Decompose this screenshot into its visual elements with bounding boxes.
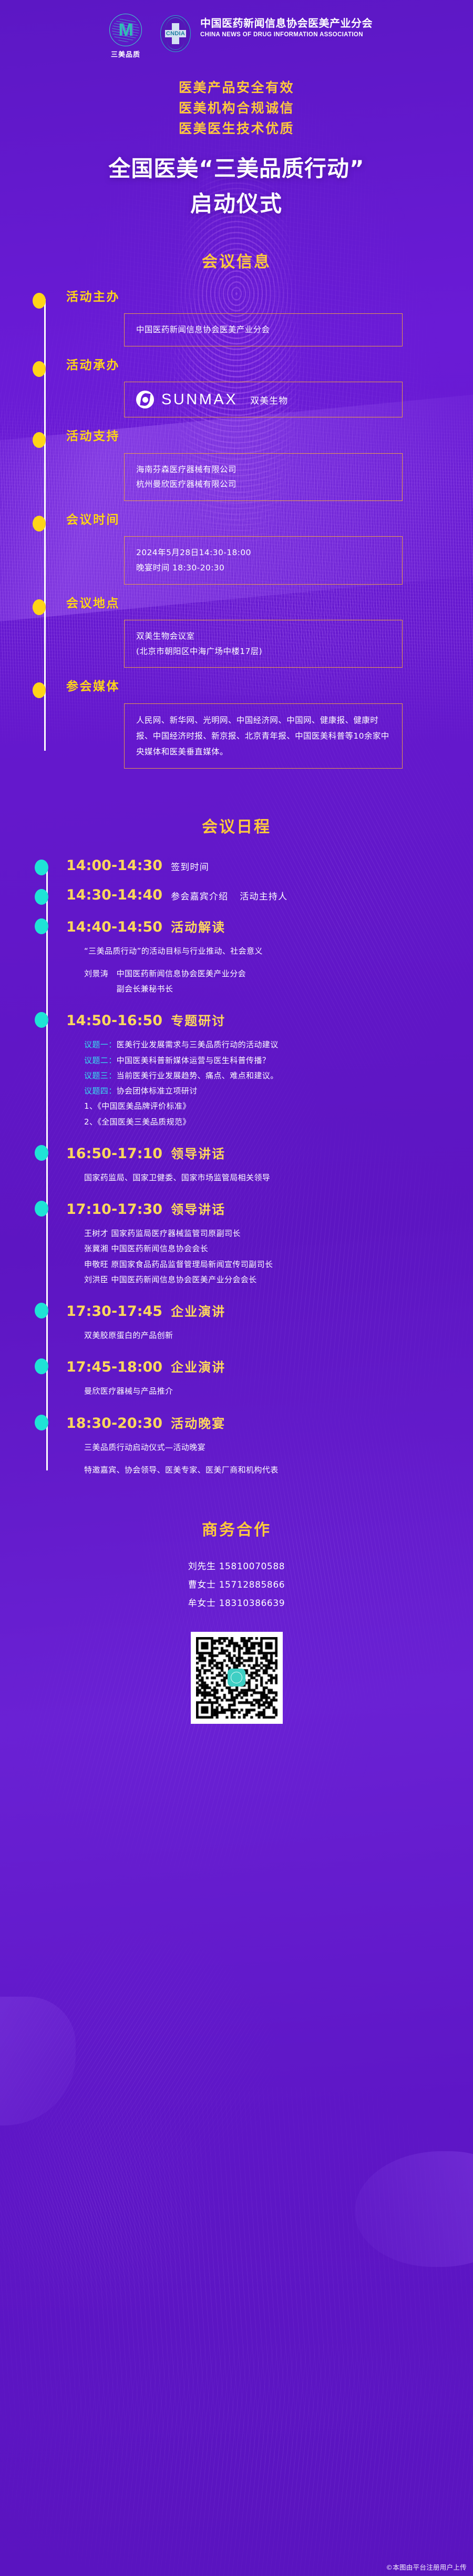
agenda-topic-text: 中国医美科普新媒体运营与医生科普传播？ <box>117 1056 271 1065</box>
contact-line-2: 曹女士 15712885866 <box>0 1576 473 1594</box>
agenda-topic-label: 参会嘉宾介绍 <box>171 892 228 902</box>
background-wave-10 <box>0 2344 473 2576</box>
agenda-topic-text: 当前医美行业发展趋势、痛点、难点和建议。 <box>117 1071 279 1080</box>
poster-header: M 三美品质 CNDIA 中国医药新闻信息协会医美产业分会 CHINA NEWS… <box>0 0 473 59</box>
agenda-body-line: “三美品质行动”的活动目标与行业推动、社会意义 <box>84 944 473 959</box>
slogan-group: 医美产品安全有效 医美机构合规诚信 医美医生技术优质 <box>0 78 473 139</box>
agenda-topic: 领导讲话 <box>171 1143 225 1162</box>
agenda-topic: 参会嘉宾介绍活动主持人 <box>171 889 287 902</box>
agenda-row-body: 曼欣医疗器械与产品推介 <box>84 1384 473 1399</box>
agenda-row-header: 14:00-14:30签到时间 <box>66 858 473 874</box>
info-row-card: SUNMAX双美生物 <box>124 382 403 417</box>
agenda-body-line: 三美品质行动启动仪式—活动晚宴 <box>84 1440 473 1455</box>
info-bullet-dot-icon <box>33 361 46 377</box>
page-title: 全国医美“三美品质行动” 启动仪式 <box>0 156 473 217</box>
info-row: 活动承办SUNMAX双美生物 <box>41 359 473 417</box>
agenda-row-header: 17:45-18:00企业演讲 <box>66 1357 473 1375</box>
slogan-line-2: 医美机构合规诚信 <box>0 98 473 119</box>
agenda-row-header: 14:40-14:50活动解读 <box>66 917 473 935</box>
conference-info-list: 活动主办中国医药新闻信息协会医美产业分会活动承办SUNMAX双美生物活动支持海南… <box>0 291 473 769</box>
agenda-body-line: 刘洪臣 中国医药新闻信息协会医美产业分会会长 <box>84 1272 473 1287</box>
info-bullet-dot-icon <box>33 293 46 309</box>
info-bullet-dot-icon <box>33 599 46 615</box>
info-row-card: 2024年5月28日14:30-18:00晚宴时间 18:30-20:30 <box>124 536 403 584</box>
footer-watermark: ©本图由平台注册用户上传 <box>386 2562 467 2572</box>
agenda-row: 17:10-17:30领导讲话王树才 国家药监局医疗器械监管司原副司长张冀湘 中… <box>41 1199 473 1287</box>
agenda-row-header: 14:50-16:50专题研讨 <box>66 1010 473 1029</box>
agenda-time: 14:40-14:50 <box>66 919 162 935</box>
info-row-label: 活动支持 <box>66 430 473 443</box>
poster-canvas: M 三美品质 CNDIA 中国医药新闻信息协会医美产业分会 CHINA NEWS… <box>0 0 473 2576</box>
agenda-time: 14:50-16:50 <box>66 1013 162 1029</box>
info-row-card: 中国医药新闻信息协会医美产业分会 <box>124 313 403 346</box>
agenda-topic-text: 协会团体标准立项研讨 <box>117 1086 198 1096</box>
association-names: 中国医药新闻信息协会医美产业分会 CHINA NEWS OF DRUG INFO… <box>200 17 373 38</box>
info-row: 参会媒体人民网、新华网、光明网、中国经济网、中国网、健康报、健康时报、中国经济时… <box>41 680 473 769</box>
info-row-card: 双美生物会议室(北京市朝阳区中海广场中楼17层) <box>124 620 403 668</box>
info-row-card: 海南芬森医疗器械有限公司杭州曼欣医疗器械有限公司 <box>124 453 403 501</box>
slogan-line-1: 医美产品安全有效 <box>0 78 473 98</box>
cndia-emblem: CNDIA <box>159 15 192 53</box>
agenda-row: 16:50-17:10领导讲话国家药监局、国家卫健委、国家市场监管局相关领导 <box>41 1143 473 1185</box>
agenda-bullet-dot-icon <box>35 1415 48 1430</box>
cndia-abbrev-label: CNDIA <box>166 30 185 37</box>
agenda-row-body: 议题一：医美行业发展需求与三美品质行动的活动建议议题二：中国医美科普新媒体运营与… <box>84 1037 473 1130</box>
agenda-body-line: 国家药监局、国家卫健委、国家市场监管局相关领导 <box>84 1170 473 1185</box>
agenda-bullet-dot-icon <box>35 1145 48 1161</box>
contact-line-1: 刘先生 15810070588 <box>0 1558 473 1576</box>
agenda-topic-label: 专题研讨 <box>171 1014 225 1028</box>
info-row: 活动支持海南芬森医疗器械有限公司杭州曼欣医疗器械有限公司 <box>41 430 473 501</box>
agenda-topic: 活动晚宴 <box>171 1413 225 1432</box>
agenda-body-line: 议题二：中国医美科普新媒体运营与医生科普传播？ <box>84 1053 473 1068</box>
qr-code-matrix <box>196 1637 277 1719</box>
agenda-body-line: 双美胶原蛋白的产品创新 <box>84 1328 473 1343</box>
info-row-card: 人民网、新华网、光明网、中国经济网、中国网、健康报、健康时报、中国经济时报、新京… <box>124 703 403 769</box>
agenda-bullet-dot-icon <box>35 918 48 934</box>
wheat-ear-icon <box>167 42 184 50</box>
agenda-bullet-dot-icon <box>35 1012 48 1028</box>
agenda-body-line: 刘景涛 中国医药新闻信息协会医美产业分会 <box>84 966 473 982</box>
agenda-row-header: 18:30-20:30活动晚宴 <box>66 1413 473 1432</box>
contact-list: 刘先生 15810070588 曹女士 15712885866 牟女士 1831… <box>0 1558 473 1613</box>
qr-center-logo-icon <box>228 1669 245 1686</box>
background-blob-right <box>355 2151 473 2267</box>
agenda-topic: 领导讲话 <box>171 1199 225 1218</box>
agenda-row-body: 三美品质行动启动仪式—活动晚宴特邀嘉宾、协会领导、医美专家、医美厂商和机构代表 <box>84 1440 473 1478</box>
agenda-time: 18:30-20:30 <box>66 1416 162 1432</box>
agenda-time: 17:45-18:00 <box>66 1359 162 1375</box>
section-title-agenda: 会议日程 <box>0 814 473 837</box>
agenda-bullet-dot-icon <box>35 1303 48 1318</box>
sunmax-mark-icon <box>136 391 154 408</box>
agenda-topic-label: 签到时间 <box>171 862 209 873</box>
agenda-topic: 企业演讲 <box>171 1357 225 1375</box>
agenda-body-line: 副会长兼秘书长 <box>84 982 473 997</box>
slogan-line-3: 医美医生技术优质 <box>0 119 473 139</box>
agenda-topic: 专题研讨 <box>171 1010 225 1029</box>
info-card-line: 2024年5月28日14:30-18:00 <box>136 545 390 560</box>
cndia-oval-frame: CNDIA <box>160 15 191 52</box>
agenda-row-body: 王树才 国家药监局医疗器械监管司原副司长张冀湘 中国医药新闻信息协会会长申敬旺 … <box>84 1226 473 1287</box>
agenda-bullet-dot-icon <box>35 1358 48 1374</box>
agenda-topic: 活动解读 <box>171 917 225 935</box>
background-wave-8 <box>0 2074 213 2332</box>
info-bullet-dot-icon <box>33 682 46 698</box>
info-row-label: 活动承办 <box>66 359 473 372</box>
info-card-line: 杭州曼欣医疗器械有限公司 <box>136 477 390 492</box>
sanmei-logo-icon: M <box>109 14 142 46</box>
agenda-row-header: 17:30-17:45企业演讲 <box>66 1301 473 1320</box>
info-row-label: 会议时间 <box>66 514 473 527</box>
sanmei-brand-logo: M 三美品质 <box>100 14 151 59</box>
sanmei-logo-caption: 三美品质 <box>111 49 140 59</box>
agenda-row: 14:40-14:50活动解读“三美品质行动”的活动目标与行业推动、社会意义刘景… <box>41 917 473 997</box>
info-row-label: 参会媒体 <box>66 680 473 693</box>
agenda-topic-number: 议题四： <box>84 1086 117 1096</box>
agenda-row-body: 国家药监局、国家卫健委、国家市场监管局相关领导 <box>84 1170 473 1185</box>
agenda-row: 14:50-16:50专题研讨议题一：医美行业发展需求与三美品质行动的活动建议议… <box>41 1010 473 1130</box>
section-title-conference-info: 会议信息 <box>0 249 473 272</box>
agenda-body-line: 曼欣医疗器械与产品推介 <box>84 1384 473 1399</box>
agenda-body-line: 议题一：医美行业发展需求与三美品质行动的活动建议 <box>84 1037 473 1052</box>
agenda-bullet-dot-icon <box>35 1201 48 1217</box>
info-row: 会议地点双美生物会议室(北京市朝阳区中海广场中楼17层) <box>41 597 473 668</box>
info-row: 会议时间2024年5月28日14:30-18:00晚宴时间 18:30-20:3… <box>41 514 473 585</box>
agenda-body-line: 申敬旺 原国家食品药品监督管理局新闻宣传司副司长 <box>84 1257 473 1272</box>
page-title-line-2: 启动仪式 <box>0 191 473 217</box>
info-row-label: 活动主办 <box>66 291 473 304</box>
agenda-topic-extra: 活动主持人 <box>240 892 287 902</box>
agenda-topic-number: 议题二： <box>84 1056 117 1065</box>
agenda-topic-label: 领导讲话 <box>171 1202 225 1217</box>
agenda-topic-label: 企业演讲 <box>171 1304 225 1319</box>
agenda-topic-label: 企业演讲 <box>171 1360 225 1375</box>
info-card-line: 双美生物会议室 <box>136 629 390 644</box>
agenda-topic-text: 医美行业发展需求与三美品质行动的活动建议 <box>117 1040 279 1049</box>
association-name-en: CHINA NEWS OF DRUG INFORMATION ASSOCIATI… <box>200 32 373 38</box>
agenda-row-header: 14:30-14:40参会嘉宾介绍活动主持人 <box>66 887 473 903</box>
contact-line-3: 牟女士 18310386639 <box>0 1594 473 1613</box>
agenda-row: 14:30-14:40参会嘉宾介绍活动主持人 <box>41 887 473 903</box>
agenda-time: 16:50-17:10 <box>66 1146 162 1162</box>
info-row-label: 会议地点 <box>66 597 473 610</box>
agenda-row: 17:30-17:45企业演讲双美胶原蛋白的产品创新 <box>41 1301 473 1343</box>
agenda-bullet-dot-icon <box>35 889 48 905</box>
info-card-line: 人民网、新华网、光明网、中国经济网、中国网、健康报、健康时报、中国经济时报、新京… <box>136 712 390 760</box>
agenda-row-body: “三美品质行动”的活动目标与行业推动、社会意义刘景涛 中国医药新闻信息协会医美产… <box>84 944 473 997</box>
section-title-business-cooperation: 商务合作 <box>0 1517 473 1540</box>
info-bullet-dot-icon <box>33 516 46 531</box>
agenda-body-line: 张冀湘 中国医药新闻信息协会会长 <box>84 1241 473 1256</box>
agenda-topic: 签到时间 <box>171 860 209 873</box>
qr-code[interactable] <box>191 1632 283 1724</box>
sunmax-name-cn: 双美生物 <box>250 393 288 406</box>
agenda-time: 14:00-14:30 <box>66 858 162 874</box>
agenda-topic-label: 活动解读 <box>171 920 225 935</box>
agenda-body-line: 议题三：当前医美行业发展趋势、痛点、难点和建议。 <box>84 1068 473 1083</box>
agenda-topic-label: 领导讲话 <box>171 1147 225 1161</box>
agenda-row: 17:45-18:00企业演讲曼欣医疗器械与产品推介 <box>41 1357 473 1399</box>
agenda-row-header: 17:10-17:30领导讲话 <box>66 1199 473 1218</box>
sunmax-wordmark: SUNMAX <box>161 391 238 408</box>
agenda-list: 14:00-14:30签到时间14:30-14:40参会嘉宾介绍活动主持人14:… <box>0 858 473 1478</box>
agenda-topic: 企业演讲 <box>171 1301 225 1320</box>
agenda-body-line: 议题四：协会团体标准立项研讨 <box>84 1083 473 1099</box>
agenda-row-body: 双美胶原蛋白的产品创新 <box>84 1328 473 1343</box>
agenda-topic-number: 议题三： <box>84 1071 117 1080</box>
info-card-line: 海南芬森医疗器械有限公司 <box>136 462 390 477</box>
info-card-line: 晚宴时间 18:30-20:30 <box>136 560 390 576</box>
info-bullet-dot-icon <box>33 432 46 448</box>
agenda-body-line: 王树才 国家药监局医疗器械监管司原副司长 <box>84 1226 473 1241</box>
agenda-topic-label: 活动晚宴 <box>171 1416 225 1431</box>
agenda-body-line: 特邀嘉宾、协会领导、医美专家、医美厂商和机构代表 <box>84 1463 473 1478</box>
background-wave-7 <box>0 1906 284 2215</box>
info-card-line: (北京市朝阳区中海广场中楼17层) <box>136 644 390 659</box>
association-name-cn: 中国医药新闻信息协会医美产业分会 <box>200 17 373 30</box>
agenda-time: 17:30-17:45 <box>66 1304 162 1320</box>
agenda-row: 18:30-20:30活动晚宴三美品质行动启动仪式—活动晚宴特邀嘉宾、协会领导、… <box>41 1413 473 1478</box>
agenda-row: 14:00-14:30签到时间 <box>41 858 473 874</box>
agenda-time: 14:30-14:40 <box>66 887 162 903</box>
sanmei-logo-letter: M <box>118 21 132 39</box>
agenda-bullet-dot-icon <box>35 860 48 875</box>
agenda-body-line: 2、《全国医美三美品质规范》 <box>84 1115 473 1130</box>
page-title-line-1: 全国医美“三美品质行动” <box>0 156 473 182</box>
agenda-body-line: 1、《中国医美品牌评价标准》 <box>84 1099 473 1114</box>
agenda-row-header: 16:50-17:10领导讲话 <box>66 1143 473 1162</box>
background-blob-left <box>0 1997 76 2125</box>
agenda-time: 17:10-17:30 <box>66 1202 162 1218</box>
agenda-topic-number: 议题一： <box>84 1040 117 1049</box>
info-row: 活动主办中国医药新闻信息协会医美产业分会 <box>41 291 473 346</box>
info-card-line: 中国医药新闻信息协会医美产业分会 <box>136 322 390 338</box>
qr-logo-ring <box>231 1672 242 1683</box>
sunmax-logo: SUNMAX双美生物 <box>136 391 390 408</box>
background-wave-9 <box>0 2087 473 2473</box>
